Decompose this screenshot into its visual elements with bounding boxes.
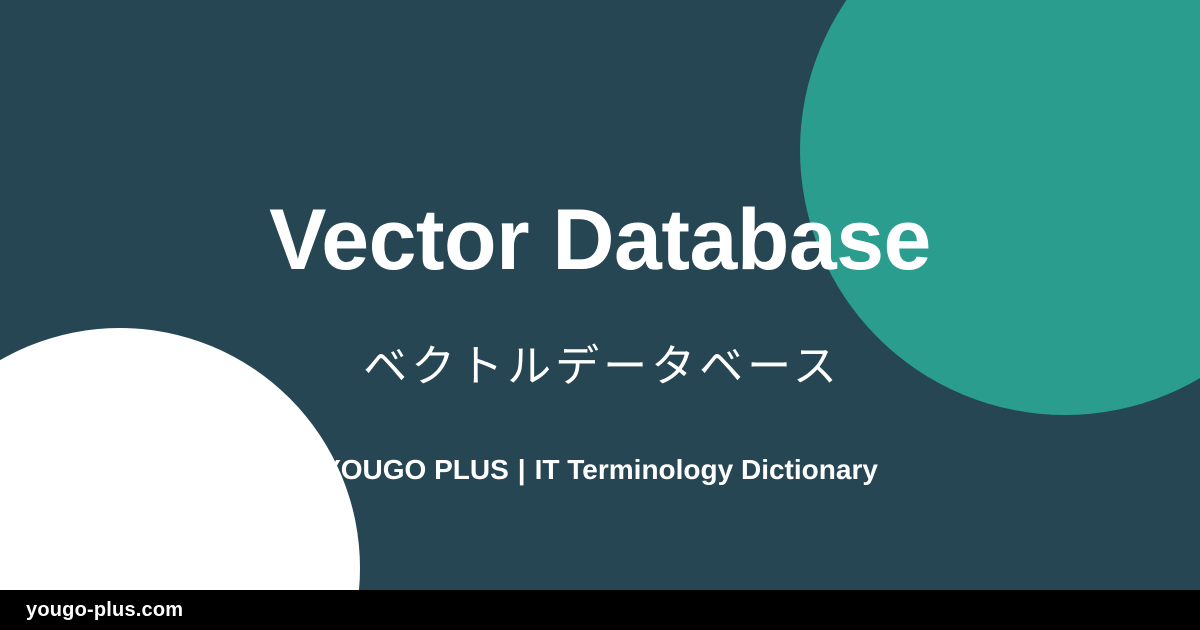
- page-title: Vector Database: [0, 195, 1200, 285]
- brand-tagline: YOUGO PLUS|IT Terminology Dictionary: [0, 452, 1200, 487]
- teal-circle-decoration: [800, 0, 1200, 415]
- footer-domain: yougo-plus.com: [26, 600, 183, 620]
- og-card: Vector Database ベクトルデータベース YOUGO PLUS|IT…: [0, 0, 1200, 630]
- white-circle-decoration: [0, 328, 360, 630]
- decorative-shape-layer: [0, 0, 1200, 630]
- tagline-description: IT Terminology Dictionary: [535, 454, 878, 485]
- card-content: Vector Database ベクトルデータベース YOUGO PLUS|IT…: [0, 0, 1200, 630]
- page-subtitle-japanese: ベクトルデータベース: [0, 341, 1200, 394]
- tagline-separator: |: [509, 452, 535, 487]
- footer-bar: yougo-plus.com: [0, 590, 1200, 630]
- brand-name: YOUGO PLUS: [322, 454, 509, 485]
